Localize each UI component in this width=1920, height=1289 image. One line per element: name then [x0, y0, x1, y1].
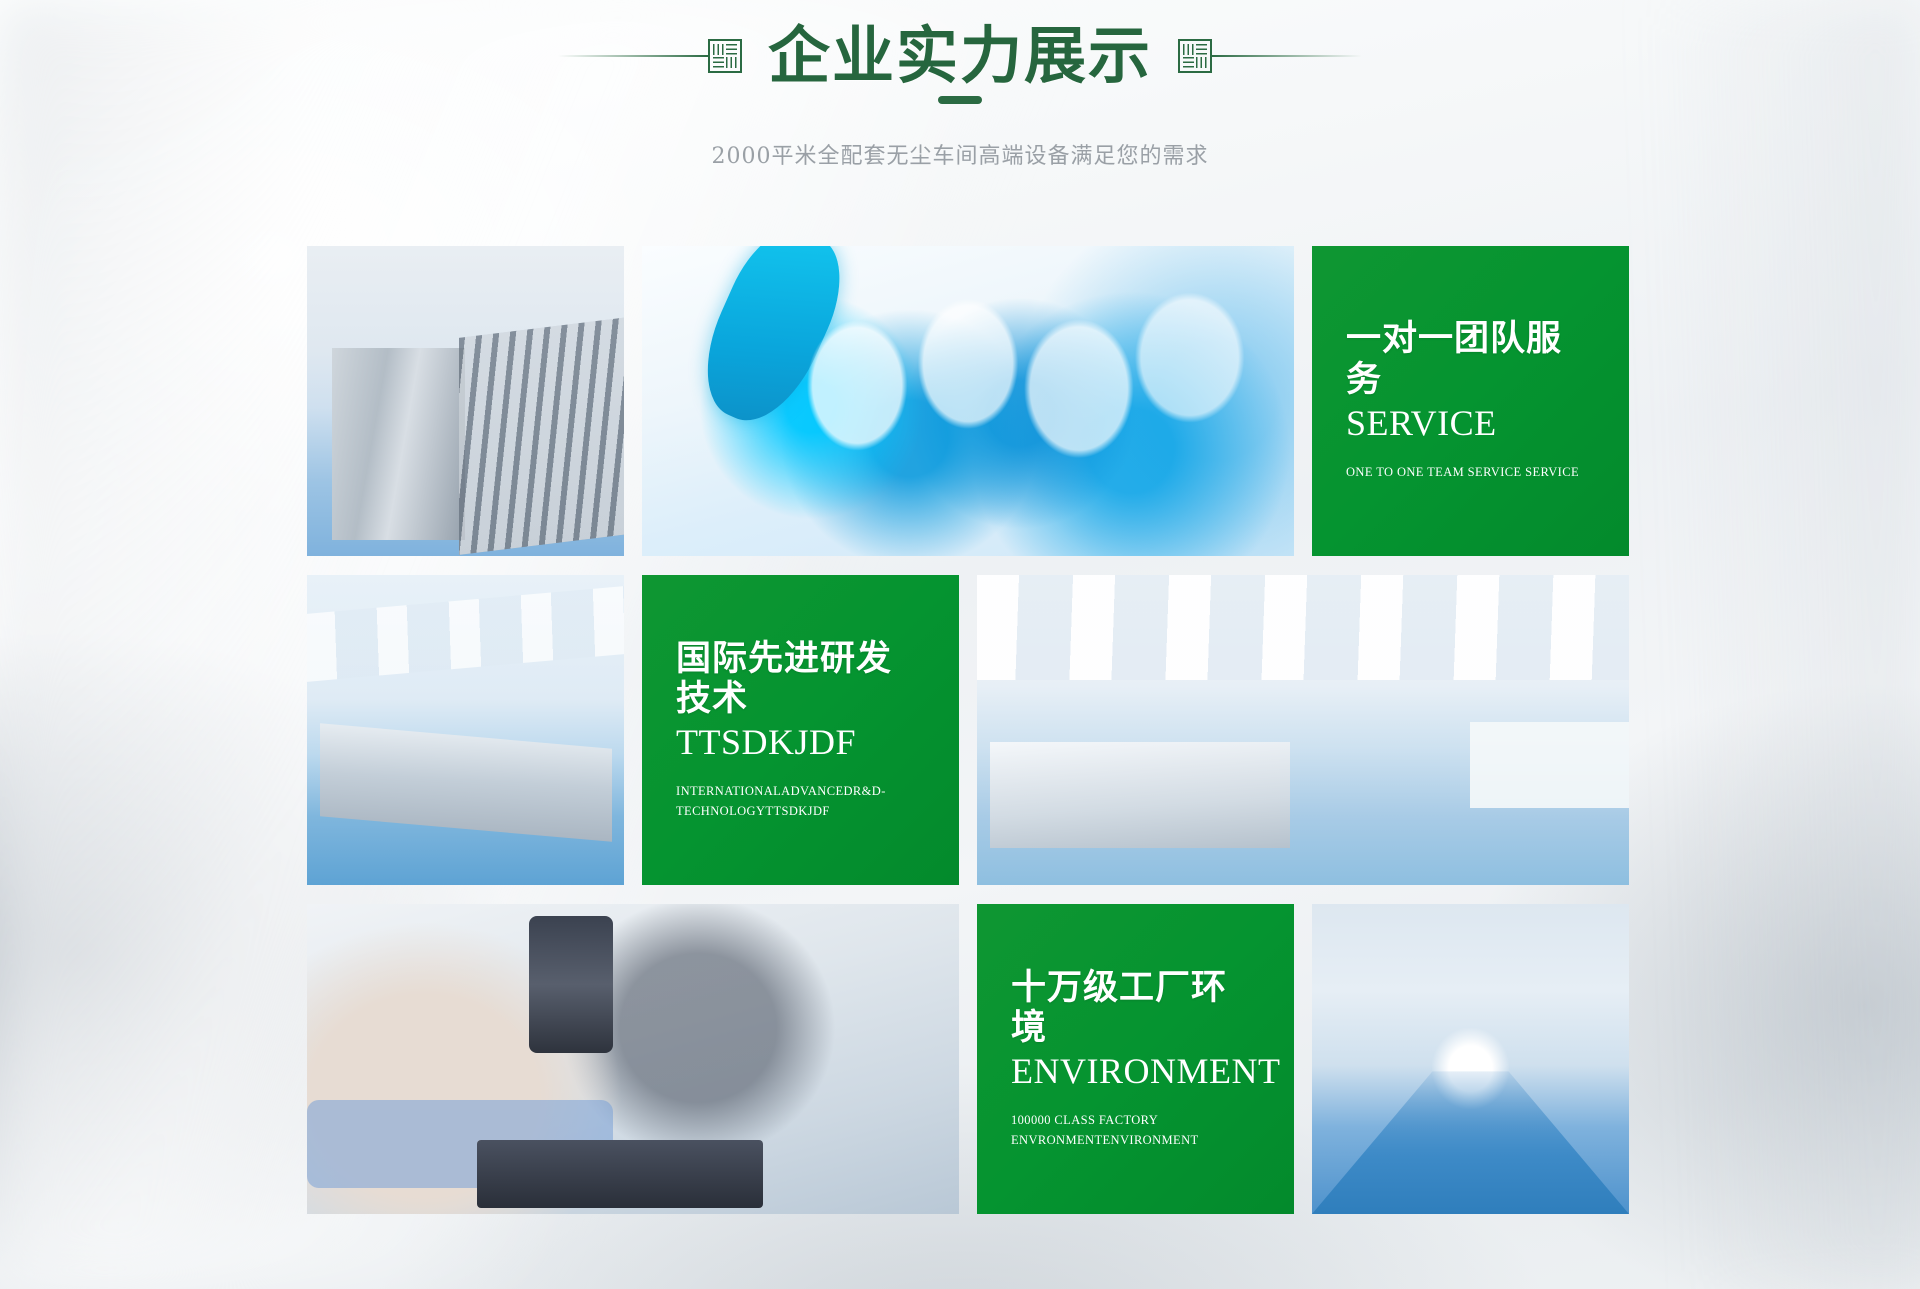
title-underline: [938, 96, 982, 104]
document-lines-icon: [1178, 39, 1212, 73]
photo-production-equipment-image: [307, 246, 624, 556]
card-environment-subtitle: 100000 CLASS FACTORY ENVRONMENTENVIRONME…: [1011, 1111, 1246, 1150]
photo-pipette-test-tubes-image: [642, 246, 1294, 556]
header-rule-right: [1212, 55, 1362, 57]
photo-laboratory-interior: [977, 575, 1629, 885]
card-service[interactable]: 一对一团队服务 SERVICE ONE TO ONE TEAM SERVICE …: [1312, 246, 1629, 556]
card-service-cn-title: 一对一团队服务: [1346, 319, 1595, 400]
card-environment[interactable]: 十万级工厂环境 ENVIRONMENT 100000 CLASS FACTORY…: [977, 904, 1294, 1214]
card-technology[interactable]: 国际先进研发技术 TTSDKJDF INTERNATIONALADVANCEDR…: [642, 575, 959, 885]
card-technology-en-title: TTSDKJDF: [676, 721, 925, 764]
photo-production-equipment: [307, 246, 624, 556]
page-subtitle: 2000平米全配套无尘车间高端设备满足您的需求: [0, 138, 1920, 170]
page-header: 企业实力展示 2000平米全配套无尘车间高端设备满足您的需求: [0, 0, 1920, 200]
document-lines-icon: [708, 39, 742, 73]
photo-researcher-microscope-image: [307, 904, 959, 1214]
card-environment-cn-title: 十万级工厂环境: [1011, 968, 1260, 1049]
photo-cleanroom-workshop-image: [307, 575, 624, 885]
photo-cleanroom-corridor: [1312, 904, 1629, 1214]
photo-cleanroom-workshop: [307, 575, 624, 885]
header-rule-left: [558, 55, 708, 57]
card-technology-subtitle: INTERNATIONALADVANCEDR&D-TECHNOLOGYTTSDK…: [676, 782, 911, 821]
page-title: 企业实力展示: [742, 25, 1178, 87]
card-environment-en-title: ENVIRONMENT: [1011, 1050, 1260, 1093]
photo-pipette-test-tubes: [642, 246, 1294, 556]
card-service-en-title: SERVICE: [1346, 402, 1595, 445]
photo-cleanroom-corridor-image: [1312, 904, 1629, 1214]
strength-showcase-grid: 一对一团队服务 SERVICE ONE TO ONE TEAM SERVICE …: [307, 246, 1612, 1222]
photo-researcher-microscope: [307, 904, 959, 1214]
photo-laboratory-interior-image: [977, 575, 1629, 885]
card-technology-cn-title: 国际先进研发技术: [676, 639, 925, 720]
title-row: 企业实力展示: [0, 0, 1920, 112]
card-service-subtitle: ONE TO ONE TEAM SERVICE SERVICE: [1346, 463, 1581, 482]
